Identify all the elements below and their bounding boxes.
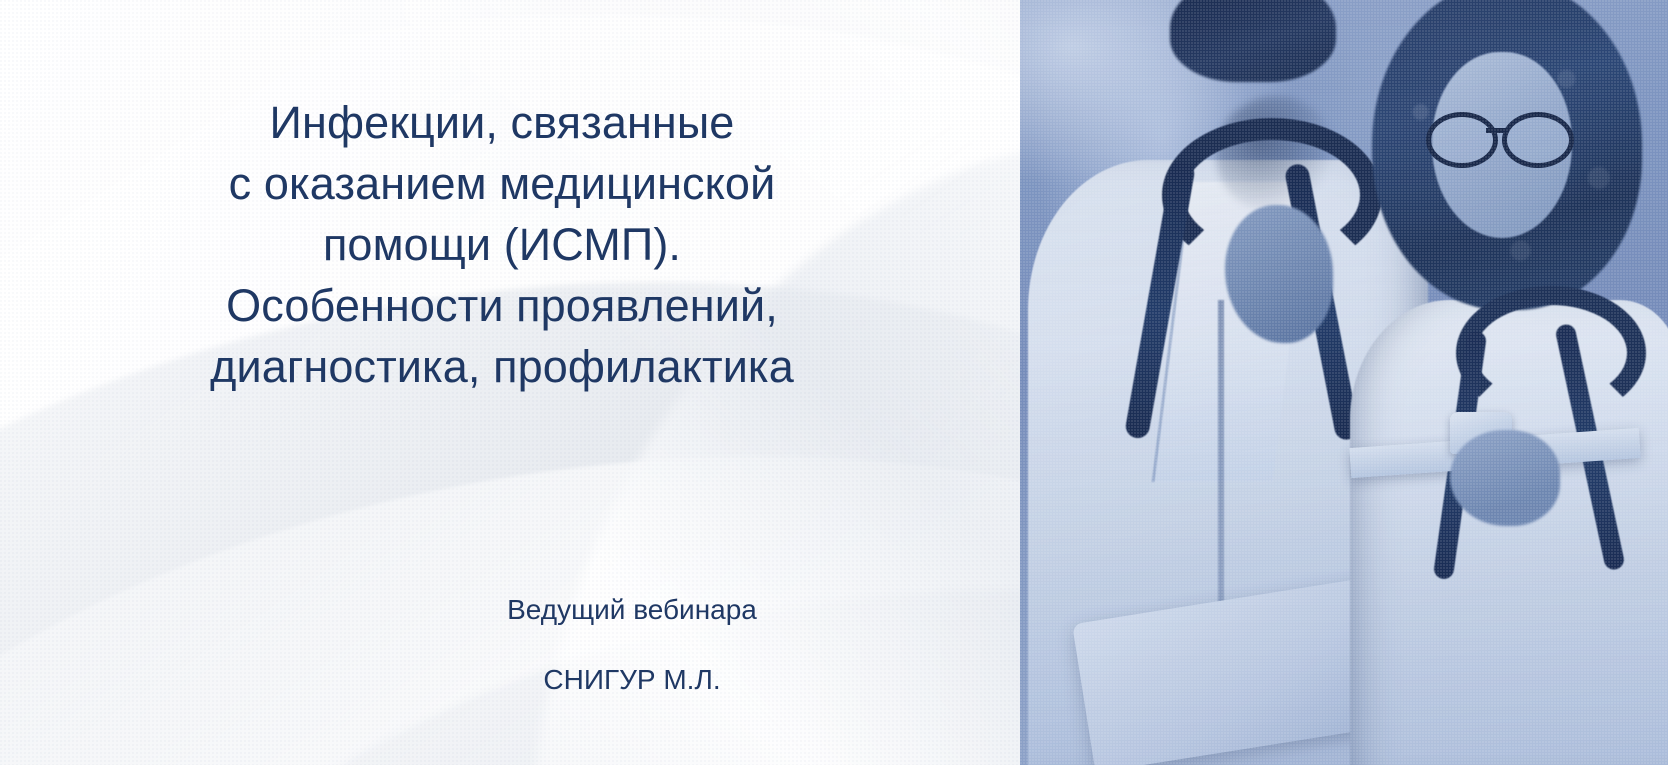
- doctor-female-hand: [1450, 430, 1560, 526]
- doctor-female-stethoscope-arc: [1456, 286, 1646, 420]
- eyeglasses-lens-left: [1426, 112, 1498, 168]
- presenter-name: СНИГУР М.Л.: [322, 658, 942, 702]
- eyeglasses-bridge: [1486, 128, 1506, 133]
- title-line-5: диагностика, профилактика: [62, 336, 942, 397]
- eyeglasses-icon: [1424, 112, 1590, 158]
- photo-artwork: [1020, 0, 1668, 765]
- slide-title: Инфекции, связанные с оказанием медицинс…: [62, 92, 942, 397]
- hero-photo: S SW.BAND S SW.BAND S SW.BAND S SW.BAND …: [1020, 0, 1668, 765]
- eyeglasses-lens-right: [1502, 112, 1574, 168]
- title-line-2: с оказанием медицинской: [62, 153, 942, 214]
- presentation-slide: Инфекции, связанные с оказанием медицинс…: [0, 0, 1668, 765]
- title-line-1: Инфекции, связанные: [62, 92, 942, 153]
- presenter-credits: Ведущий вебинара СНИГУР М.Л.: [322, 588, 942, 702]
- title-line-4: Особенности проявлений,: [62, 275, 942, 336]
- presenter-role-label: Ведущий вебинара: [322, 588, 942, 632]
- title-line-3: помощи (ИСМП).: [62, 214, 942, 275]
